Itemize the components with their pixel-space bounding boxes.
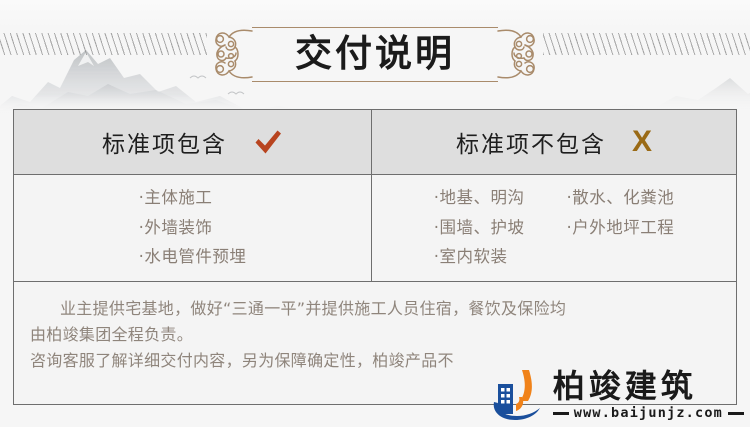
brand-name: 柏竣建筑	[553, 370, 744, 402]
check-mark-icon	[253, 128, 283, 156]
footnote-line-2: 由柏竣集团全程负责。	[30, 322, 720, 348]
list-item: ·户外地坪工程	[567, 216, 675, 241]
list-item: ·室内软装	[434, 245, 525, 270]
list-item: ·地基、明沟	[434, 186, 525, 211]
building-swoosh-logo-icon	[489, 367, 547, 423]
excluded-items-list: ·地基、明沟 ·围墙、护坡 ·室内软装 ·散水、化粪池 ·户外地坪工程	[434, 186, 675, 270]
cloud-scroll-ornament-right-icon	[495, 23, 539, 85]
list-item: ·主体施工	[139, 186, 247, 211]
title-block: 交付说明	[211, 16, 539, 92]
list-item: ·围墙、护坡	[434, 216, 525, 241]
included-header-label: 标准项包含	[102, 125, 227, 159]
logo-text-block: 柏竣建筑 www.baijunjz.com	[553, 370, 744, 421]
card-header: 交付说明	[0, 0, 750, 98]
included-items-list: ·主体施工 ·外墙装饰 ·水电管件预埋	[139, 186, 247, 270]
url-rule-left	[553, 412, 569, 415]
brand-url-row: www.baijunjz.com	[553, 407, 744, 421]
hatch-rule-left	[0, 33, 207, 55]
hatch-rule-right	[543, 33, 750, 55]
title-frame: 交付说明	[252, 27, 498, 82]
list-item: ·散水、化粪池	[567, 186, 675, 211]
brand-url: www.baijunjz.com	[574, 407, 723, 421]
url-rule-right	[728, 412, 744, 415]
delivery-notice-card: 交付说明	[0, 0, 750, 427]
table-body-row: ·主体施工 ·外墙装饰 ·水电管件预埋 ·地基、明沟 ·围墙、护坡 ·室内软装 …	[14, 175, 736, 282]
header-cell-included: 标准项包含	[14, 110, 372, 174]
brand-watermark-logo: 柏竣建筑 www.baijunjz.com	[489, 367, 744, 423]
list-item: ·水电管件预埋	[139, 245, 247, 270]
body-cell-excluded: ·地基、明沟 ·围墙、护坡 ·室内软装 ·散水、化粪池 ·户外地坪工程	[372, 175, 736, 281]
table-header-row: 标准项包含 标准项不包含 X	[14, 110, 736, 175]
list-item: ·外墙装饰	[139, 216, 247, 241]
footnote-line-1: 业主提供宅基地，做好“三通一平”并提供施工人员住宿，餐饮及保险均	[30, 296, 720, 322]
body-cell-included: ·主体施工 ·外墙装饰 ·水电管件预埋	[14, 175, 372, 281]
x-mark-icon: X	[632, 127, 652, 157]
excluded-items-column-1: ·地基、明沟 ·围墙、护坡 ·室内软装	[434, 186, 525, 270]
included-items-column: ·主体施工 ·外墙装饰 ·水电管件预埋	[139, 186, 247, 270]
excluded-items-column-2: ·散水、化粪池 ·户外地坪工程	[567, 186, 675, 270]
header-cell-excluded: 标准项不包含 X	[372, 110, 736, 174]
excluded-header-label: 标准项不包含	[456, 125, 606, 159]
cloud-scroll-ornament-left-icon	[211, 23, 255, 85]
page-title: 交付说明	[282, 35, 468, 72]
delivery-scope-table: 标准项包含 标准项不包含 X ·主体施工 ·外墙装饰	[13, 109, 737, 405]
